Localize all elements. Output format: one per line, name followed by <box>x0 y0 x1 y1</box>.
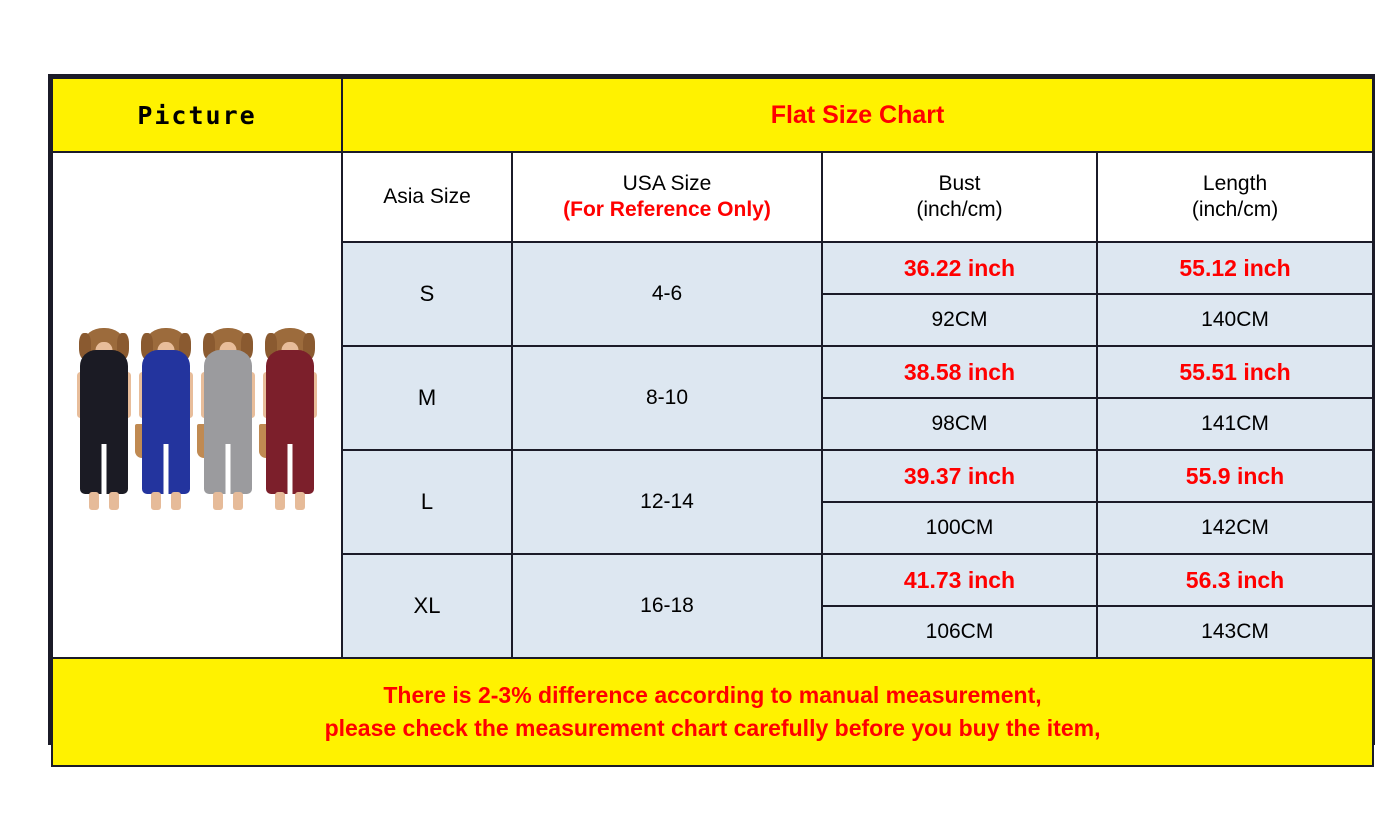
measurement-note-line2: please check the measurement chart caref… <box>53 712 1372 745</box>
asia-size-l: L <box>342 450 512 554</box>
black-maxi-dress <box>76 328 132 510</box>
legs <box>151 492 181 510</box>
picture-cell <box>52 152 342 658</box>
note-row: There is 2-3% difference according to ma… <box>52 658 1373 766</box>
measurement-note: There is 2-3% difference according to ma… <box>52 658 1373 766</box>
gray-maxi-dress <box>200 328 256 510</box>
dress-body <box>142 350 190 494</box>
column-header-usa-size: USA Size (For Reference Only) <box>512 152 822 242</box>
bust-cm-m: 98CM <box>822 398 1097 450</box>
dress-photo-group <box>53 300 341 510</box>
banner-row: Picture Flat Size Chart <box>52 78 1373 152</box>
bust-inch-s: 36.22 inch <box>822 242 1097 294</box>
legs <box>275 492 305 510</box>
usa-size-subnote: (For Reference Only) <box>513 197 821 223</box>
bust-inch-l: 39.37 inch <box>822 450 1097 502</box>
usa-size-l: 12-14 <box>512 450 822 554</box>
dress-body <box>80 350 128 494</box>
bust-cm-s: 92CM <box>822 294 1097 346</box>
length-cm-xl: 143CM <box>1097 606 1373 658</box>
dress-body <box>204 350 252 494</box>
usa-size-m: 8-10 <box>512 346 822 450</box>
size-chart-table: Picture Flat Size Chart <box>51 77 1374 767</box>
length-cm-l: 142CM <box>1097 502 1373 554</box>
asia-size-xl: XL <box>342 554 512 658</box>
length-inch-xl: 56.3 inch <box>1097 554 1373 606</box>
length-inch-l: 55.9 inch <box>1097 450 1373 502</box>
usa-size-xl: 16-18 <box>512 554 822 658</box>
length-main: Length <box>1098 171 1372 197</box>
bust-cm-l: 100CM <box>822 502 1097 554</box>
legs <box>89 492 119 510</box>
bust-inch-xl: 41.73 inch <box>822 554 1097 606</box>
bust-cm-xl: 106CM <box>822 606 1097 658</box>
asia-size-m: M <box>342 346 512 450</box>
bust-main: Bust <box>823 171 1096 197</box>
usa-size-s: 4-6 <box>512 242 822 346</box>
length-cm-s: 140CM <box>1097 294 1373 346</box>
usa-size-main: USA Size <box>513 171 821 197</box>
measurement-note-line1: There is 2-3% difference according to ma… <box>53 679 1372 712</box>
bust-inch-m: 38.58 inch <box>822 346 1097 398</box>
picture-header-cell: Picture <box>52 78 342 152</box>
size-chart-container: Picture Flat Size Chart <box>48 74 1375 745</box>
royal-blue-maxi-dress <box>138 328 194 510</box>
column-header-length: Length (inch/cm) <box>1097 152 1373 242</box>
length-cm-m: 141CM <box>1097 398 1373 450</box>
dress-body <box>266 350 314 494</box>
burgundy-maxi-dress <box>262 328 318 510</box>
length-inch-m: 55.51 inch <box>1097 346 1373 398</box>
length-inch-s: 55.12 inch <box>1097 242 1373 294</box>
length-unit: (inch/cm) <box>1098 197 1372 223</box>
legs <box>213 492 243 510</box>
asia-size-s: S <box>342 242 512 346</box>
column-header-row: Asia Size USA Size (For Reference Only) … <box>52 152 1373 242</box>
bust-unit: (inch/cm) <box>823 197 1096 223</box>
column-header-asia-size: Asia Size <box>342 152 512 242</box>
flat-size-chart-title: Flat Size Chart <box>342 78 1373 152</box>
column-header-bust: Bust (inch/cm) <box>822 152 1097 242</box>
